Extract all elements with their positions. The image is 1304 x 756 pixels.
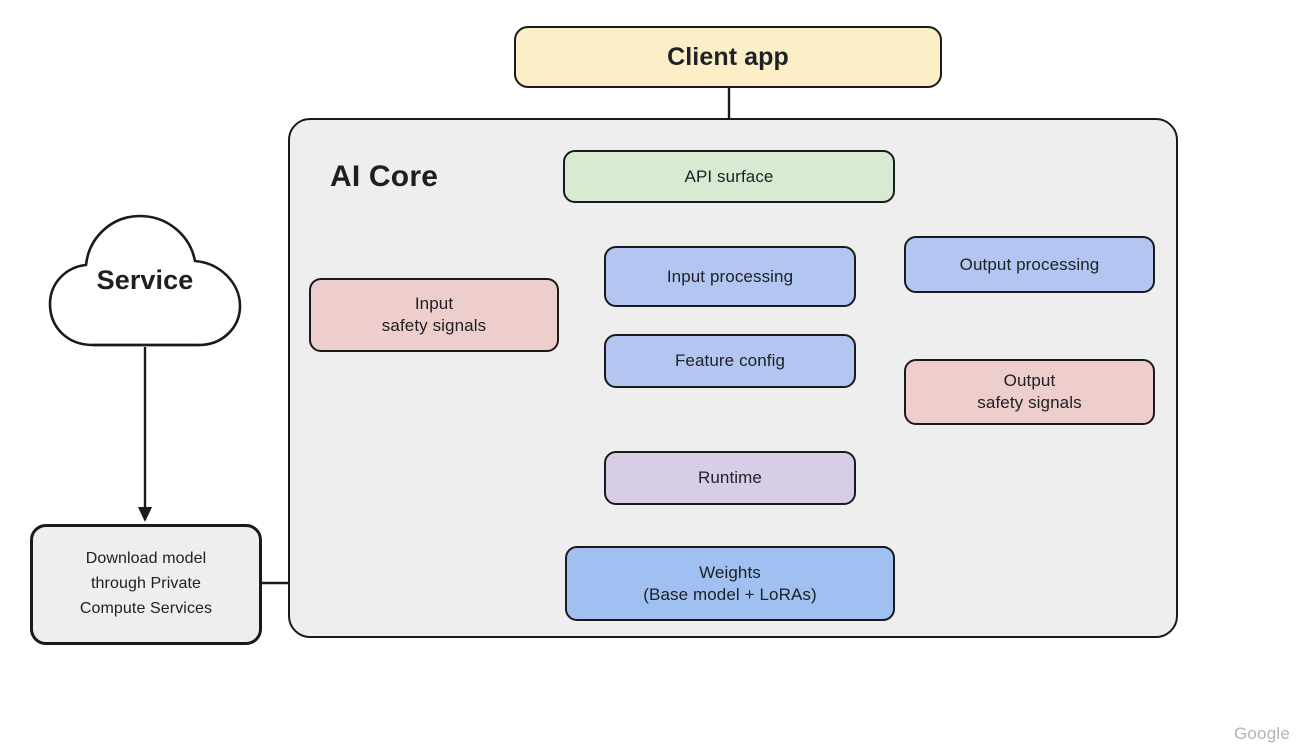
ai-core-label: AI Core: [330, 158, 438, 196]
node-api-surface[interactable]: API surface: [563, 150, 895, 203]
node-input-processing[interactable]: Input processing: [604, 246, 856, 307]
node-output-safety-signals[interactable]: Output safety signals: [904, 359, 1155, 425]
node-service-cloud[interactable]: Service: [45, 212, 245, 348]
node-input-safety-signals[interactable]: Input safety signals: [309, 278, 559, 352]
service-label: Service: [97, 263, 194, 298]
node-runtime[interactable]: Runtime: [604, 451, 856, 505]
node-output-processing[interactable]: Output processing: [904, 236, 1155, 293]
node-weights[interactable]: Weights (Base model + LoRAs): [565, 546, 895, 621]
google-watermark: Google: [1234, 724, 1290, 744]
node-client-app[interactable]: Client app: [514, 26, 942, 88]
node-feature-config[interactable]: Feature config: [604, 334, 856, 388]
node-download-model[interactable]: Download model through Private Compute S…: [30, 524, 262, 645]
diagram-canvas: Client app AI Core API surface Input pro…: [0, 0, 1304, 756]
